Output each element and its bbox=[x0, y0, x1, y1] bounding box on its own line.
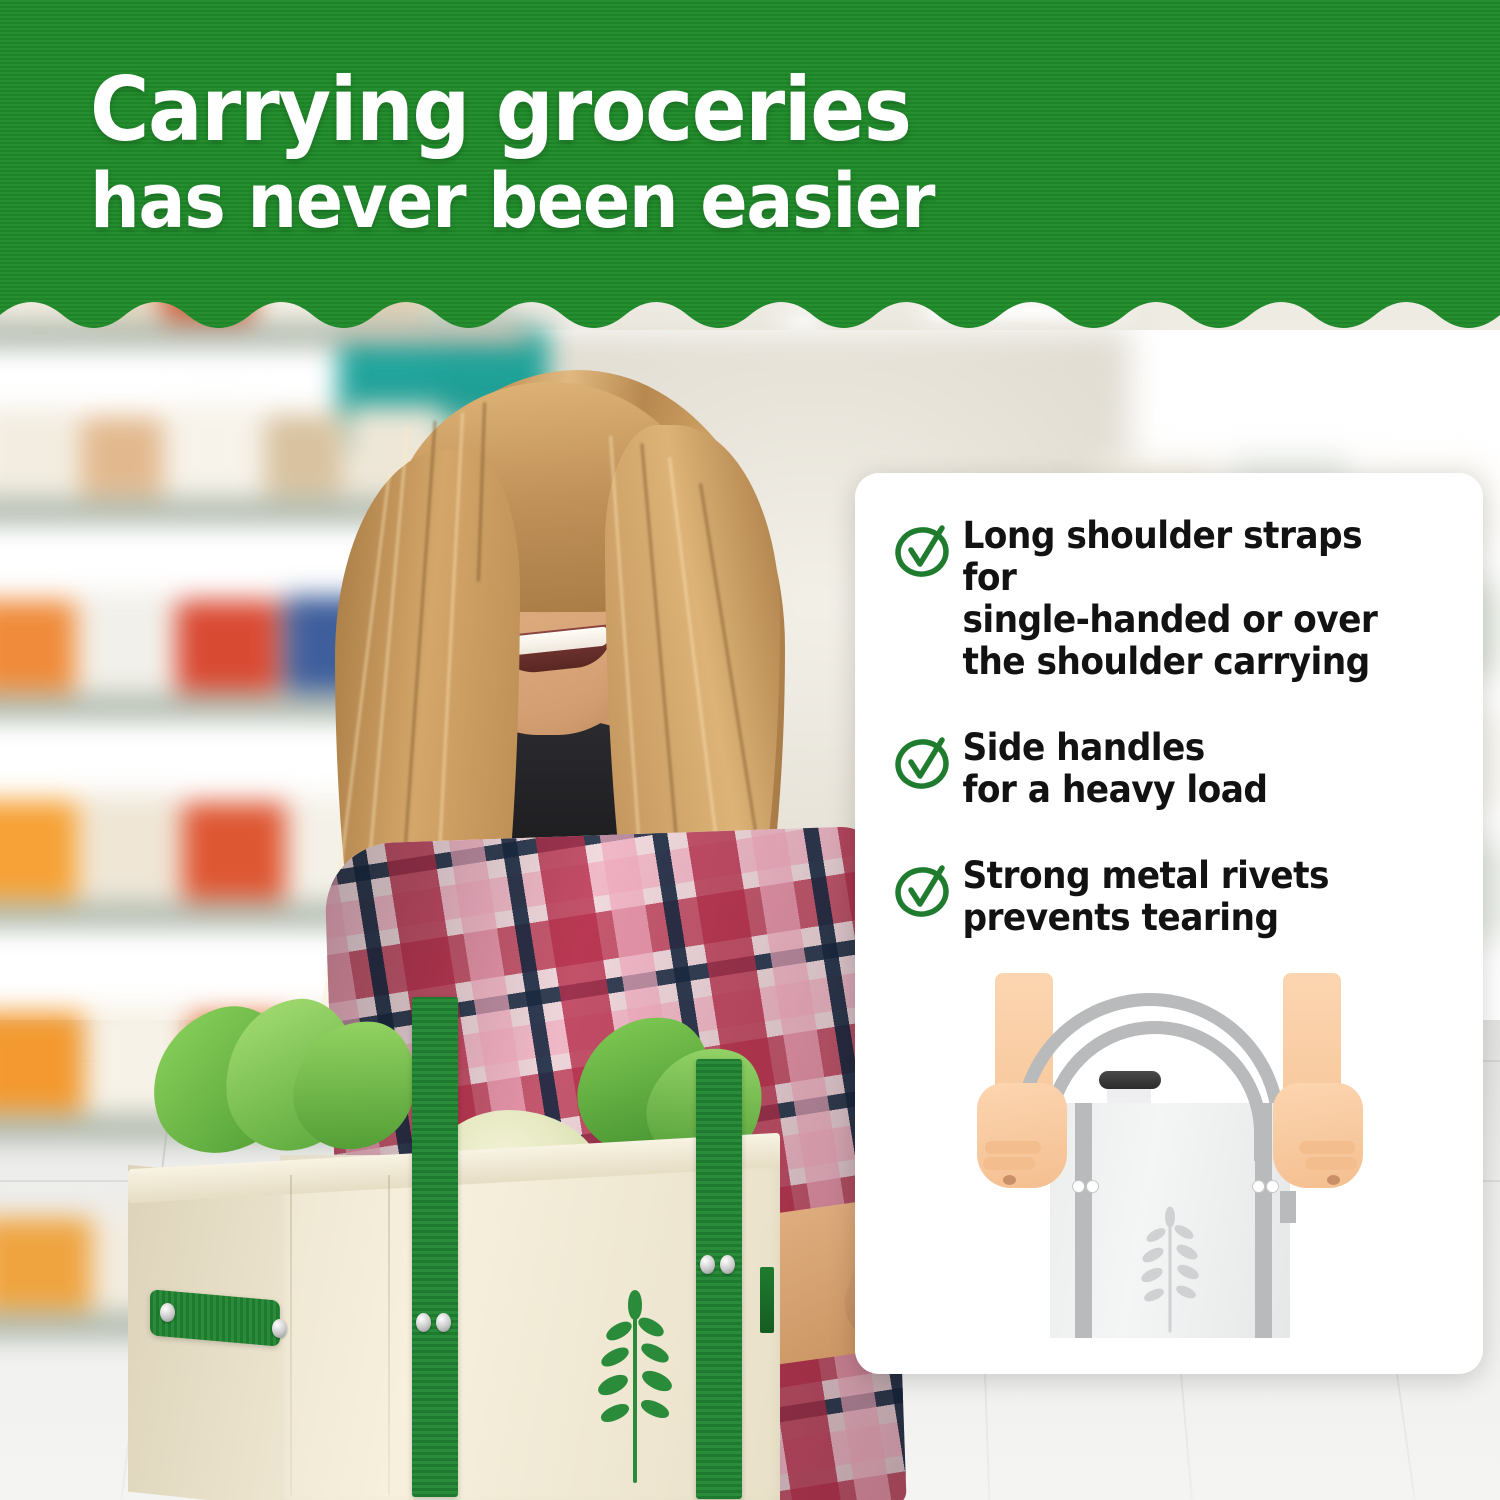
left-hand bbox=[977, 1083, 1067, 1188]
side-handle-tab bbox=[1280, 1191, 1296, 1223]
check-circle-icon bbox=[893, 731, 955, 793]
tote-bag-shoulder-strap bbox=[412, 997, 458, 1497]
botanical-sprig-logo bbox=[575, 1285, 695, 1485]
brand-tag bbox=[760, 1267, 774, 1333]
feature-list: Long shoulder straps for single-handed o… bbox=[893, 515, 1453, 983]
feature-item: Long shoulder straps for single-handed o… bbox=[893, 515, 1453, 683]
check-circle-icon bbox=[893, 859, 955, 921]
page-title: Carrying groceries has never been easier bbox=[90, 62, 1390, 244]
right-hand bbox=[1273, 1083, 1363, 1188]
botanical-sprig-logo bbox=[1115, 1205, 1225, 1335]
headline-line-2: has never been easier bbox=[90, 158, 1286, 244]
check-circle-icon bbox=[893, 519, 955, 581]
tote-bag-shoulder-strap bbox=[696, 1059, 742, 1499]
hands-holding-tote-bag-illustration: cookies bbox=[875, 973, 1465, 1363]
feature-item: Side handles for a heavy load bbox=[893, 727, 1453, 811]
green-header-banner: Carrying groceries has never been easier bbox=[0, 0, 1500, 345]
product-infographic: Carrying groceries has never been easier… bbox=[0, 0, 1500, 1500]
tote-bag-product bbox=[120, 1115, 810, 1500]
feature-label: Strong metal rivets prevents tearing bbox=[955, 855, 1329, 939]
headline-line-1: Carrying groceries bbox=[90, 62, 1286, 158]
feature-label: Long shoulder straps for single-handed o… bbox=[955, 515, 1418, 683]
feature-label: Side handles for a heavy load bbox=[955, 727, 1267, 811]
feature-card: Long shoulder straps for single-handed o… bbox=[855, 473, 1483, 1374]
feature-item: Strong metal rivets prevents tearing bbox=[893, 855, 1453, 939]
